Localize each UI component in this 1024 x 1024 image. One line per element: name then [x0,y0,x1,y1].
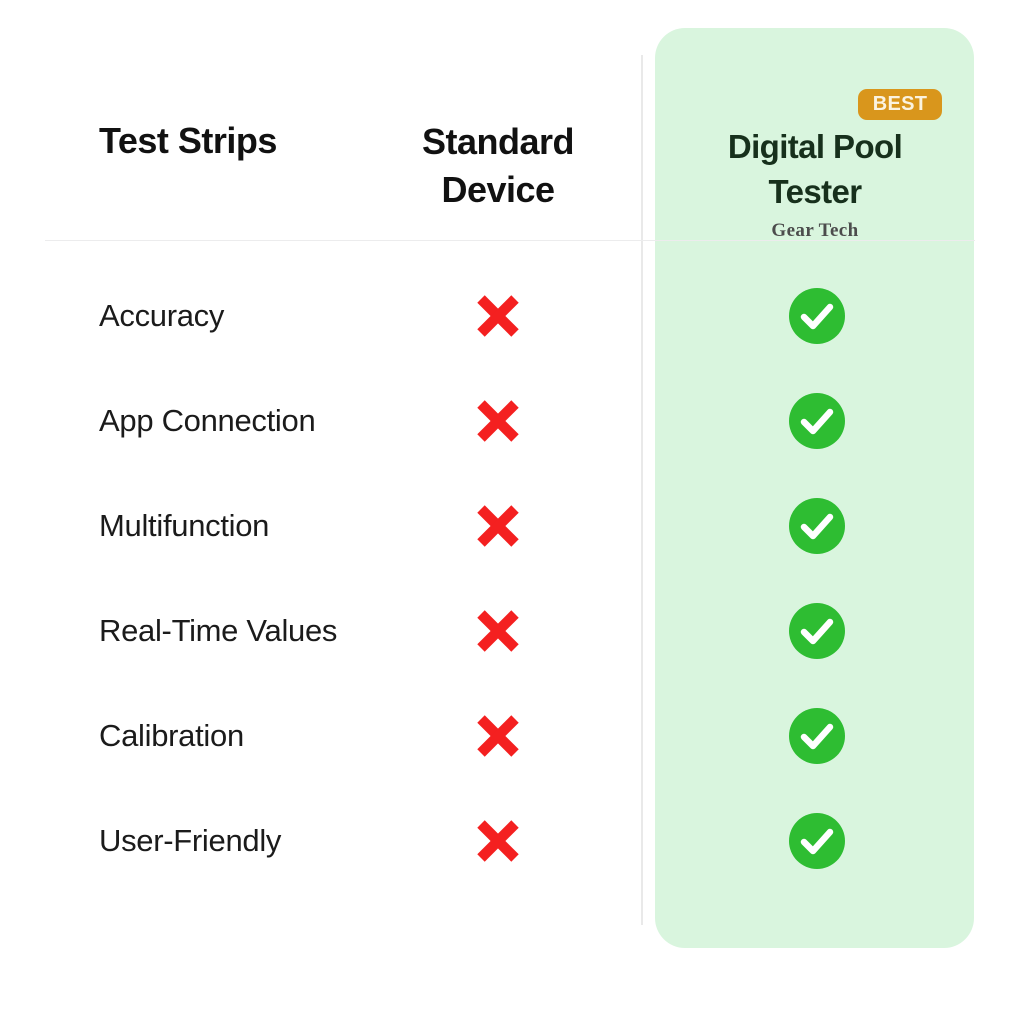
cell-standard [438,788,558,893]
green-check-circle-icon [788,602,846,660]
red-x-icon [474,712,522,760]
green-check-circle-icon [788,812,846,870]
red-x-icon [474,817,522,865]
row-label: Multifunction [99,473,429,578]
red-x-icon [474,292,522,340]
green-check-circle-icon [788,707,846,765]
row-label: Accuracy [99,263,429,368]
row-label: User-Friendly [99,788,429,893]
cell-standard [438,368,558,473]
row-label: Real-Time Values [99,578,429,683]
table-row: App Connection [0,368,1024,473]
table-row: Calibration [0,683,1024,788]
red-x-icon [474,607,522,655]
row-label: App Connection [99,368,429,473]
red-x-icon [474,397,522,445]
table-row: User-Friendly [0,788,1024,893]
cell-standard [438,578,558,683]
green-check-circle-icon [788,497,846,555]
cell-best [757,683,877,788]
cell-standard [438,473,558,578]
red-x-icon [474,502,522,550]
cell-best [757,788,877,893]
row-label: Calibration [99,683,429,788]
green-check-circle-icon [788,392,846,450]
table-row: Accuracy [0,263,1024,368]
cell-best [757,263,877,368]
cell-standard [438,263,558,368]
cell-best [757,473,877,578]
table-body: Accuracy App Connection [0,0,1024,1024]
cell-best [757,578,877,683]
table-row: Real-Time Values [0,578,1024,683]
cell-standard [438,683,558,788]
table-row: Multifunction [0,473,1024,578]
comparison-table-page: Test Strips Standard Device Digital Pool… [0,0,1024,1024]
green-check-circle-icon [788,287,846,345]
cell-best [757,368,877,473]
